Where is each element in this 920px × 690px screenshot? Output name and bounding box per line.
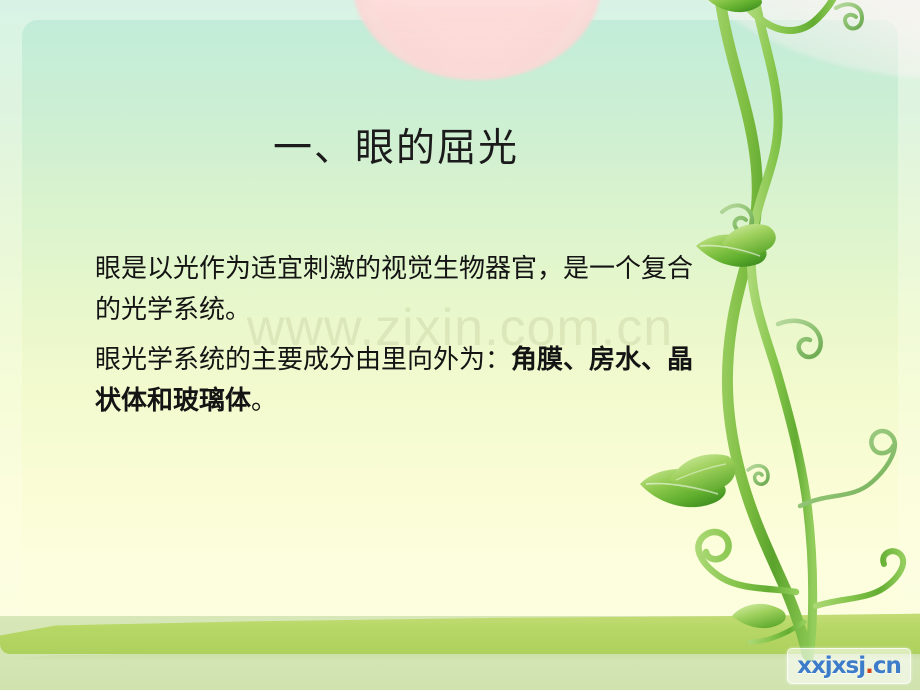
body-paragraph-2-lead: 眼光学系统的主要成分由里向外为：	[95, 345, 511, 374]
site-logo-text: xxjxsj.cn	[797, 655, 901, 678]
site-logo-watermark: xxjxsj.cn	[787, 648, 911, 684]
presentation-slide: www.zixin.com.cn 一、眼的屈光 眼是以光作为适宜刺激的视觉生物器…	[0, 0, 920, 690]
body-paragraph-1: 眼是以光作为适宜刺激的视觉生物器官，是一个复合的光学系统。	[95, 248, 695, 330]
body-paragraph-1-text: 眼是以光作为适宜刺激的视觉生物器官，是一个复合的光学系统。	[95, 254, 693, 324]
body-paragraph-2: 眼光学系统的主要成分由里向外为：角膜、房水、晶状体和玻璃体。	[95, 339, 695, 421]
page-title: 一、眼的屈光	[96, 124, 696, 174]
site-logo-tld: cn	[873, 653, 901, 679]
site-logo-dot: .	[865, 653, 873, 679]
slide-body-text: 眼是以光作为适宜刺激的视觉生物器官，是一个复合的光学系统。 眼光学系统的主要成分…	[95, 248, 695, 430]
body-paragraph-2-tail: 。	[251, 386, 277, 415]
slide-content: 一、眼的屈光 眼是以光作为适宜刺激的视觉生物器官，是一个复合的光学系统。 眼光学…	[0, 0, 920, 690]
site-logo-name: xxjxsj	[797, 653, 865, 679]
